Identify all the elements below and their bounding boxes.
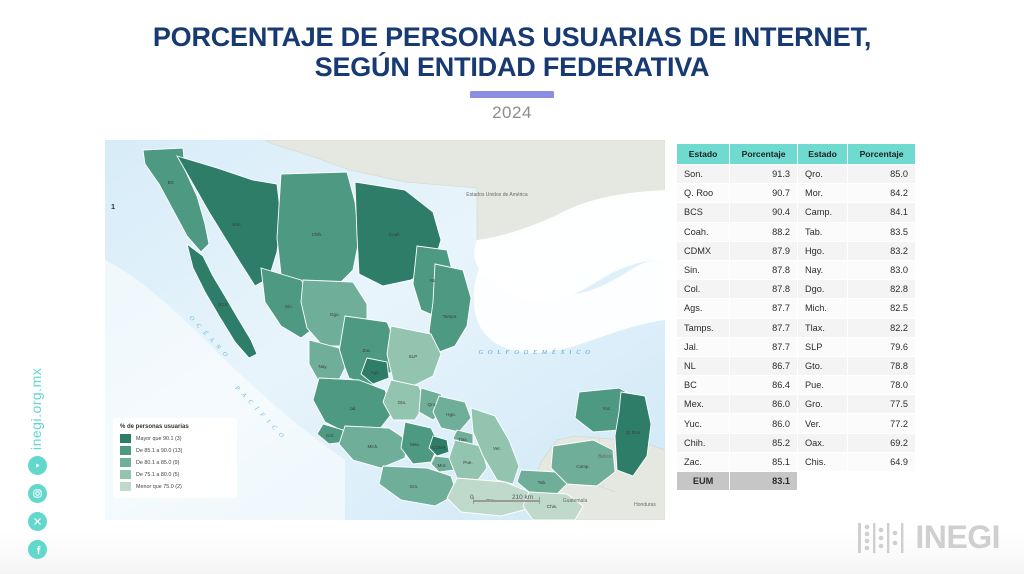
legend-item: De 80.1 a 85.0 (9) [120,458,230,467]
table-row: Chih.85.2Oax.69.2 [677,433,916,452]
social-icons [28,456,68,559]
inegi-logo-mark [856,521,908,555]
choropleth-map[interactable]: Estados Unidos de América G O L F O D E … [105,140,665,520]
cell-porcentaje: 87.7 [730,318,798,337]
cell-estado: Tab. [798,222,848,241]
cell-porcentaje: 91.3 [730,165,798,184]
cell-porcentaje: 86.7 [730,356,798,375]
col-header-estado-2: Estado [798,144,848,165]
cell-porcentaje: 87.7 [730,299,798,318]
table-head: Estado Porcentaje Estado Porcentaje [677,144,916,165]
table-row: Col.87.8Dgo.82.8 [677,280,916,299]
cell-estado: Ags. [677,299,730,318]
cell-estado: Pue. [798,376,848,395]
table-row: Coah.88.2Tab.83.5 [677,222,916,241]
table-row: Mex.86.0Gro.77.5 [677,395,916,414]
cell-blank [798,472,848,491]
cell-estado: Zac. [677,452,730,471]
percentage-table: Estado Porcentaje Estado Porcentaje Son.… [676,143,916,491]
cell-total-label: EUM [677,472,730,491]
cell-porcentaje: 83.0 [848,260,916,279]
cell-estado: Ver. [798,414,848,433]
table-row: NL86.7Gto.78.8 [677,356,916,375]
title-line-2: SEGÚN ENTIDAD FEDERATIVA [315,52,710,82]
legend-swatch [120,446,131,455]
table-row: Yuc.86.0Ver.77.2 [677,414,916,433]
state-gto [383,380,425,420]
page-title: PORCENTAJE DE PERSONAS USUARIAS DE INTER… [70,22,954,82]
cell-porcentaje: 90.7 [730,184,798,203]
cell-porcentaje: 79.6 [848,337,916,356]
table-row: Son.91.3Qro.85.0 [677,165,916,184]
cell-estado: Mor. [798,184,848,203]
legend-label: De 85.1 a 90.0 (13) [136,448,182,454]
cell-estado: BC [677,376,730,395]
legend-swatch [120,434,131,443]
cell-porcentaje: 77.2 [848,414,916,433]
facebook-icon[interactable] [28,540,47,559]
cell-porcentaje: 64.9 [848,452,916,471]
cell-porcentaje: 90.4 [730,203,798,222]
belice-label: Belice [598,454,612,460]
cell-total-value: 83.1 [730,472,798,491]
guatemala-label: Guatemala [563,498,588,504]
cell-porcentaje: 86.0 [730,395,798,414]
col-header-porcentaje-1: Porcentaje [730,144,798,165]
gulf-of-mexico-label: G O L F O D E M É X I C O [478,348,591,356]
state-chih [277,172,359,288]
honduras-label: Honduras [634,502,656,508]
table-row: CDMX87.9Hgo.83.2 [677,241,916,260]
legend-label: De 75.1 a 80.0 (5) [136,472,179,478]
table-body: Son.91.3Qro.85.0Q. Roo90.7Mor.84.2BCS90.… [677,165,916,491]
cell-estado: Col. [677,280,730,299]
year-label: 2024 [70,103,954,123]
cell-porcentaje: 82.2 [848,318,916,337]
legend-label: De 80.1 a 85.0 (9) [136,460,179,466]
cell-porcentaje: 85.2 [730,433,798,452]
cell-porcentaje: 87.8 [730,260,798,279]
cell-porcentaje: 78.0 [848,376,916,395]
table-total-row: EUM83.1 [677,472,916,491]
usa-label: Estados Unidos de América [466,192,528,198]
legend-item: De 75.1 a 80.0 (5) [120,470,230,479]
cell-estado: SLP [798,337,848,356]
col-header-porcentaje-2: Porcentaje [848,144,916,165]
cell-estado: Chis. [798,452,848,471]
x-icon[interactable] [28,512,47,531]
slide-root: PORCENTAJE DE PERSONAS USUARIAS DE INTER… [0,0,1024,574]
legend-item: Mayor que 90.1 (3) [120,434,230,443]
map-note-marker: 1 [111,202,115,211]
table-row: BC86.4Pue.78.0 [677,376,916,395]
legend-swatch [120,458,131,467]
cell-blank [848,472,916,491]
cell-porcentaje: 77.5 [848,395,916,414]
cell-estado: CDMX [677,241,730,260]
cell-porcentaje: 85.1 [730,452,798,471]
cell-porcentaje: 87.9 [730,241,798,260]
legend-item: De 85.1 a 90.0 (13) [120,446,230,455]
cell-estado: Tlax. [798,318,848,337]
cell-estado: Hgo. [798,241,848,260]
cell-estado: Oax. [798,433,848,452]
map-legend: % de personas usuarias Mayor que 90.1 (3… [113,418,237,498]
cell-porcentaje: 83.5 [848,222,916,241]
cell-estado: Sin. [677,260,730,279]
cell-estado: Nay. [798,260,848,279]
cell-porcentaje: 78.8 [848,356,916,375]
cell-estado: Yuc. [677,414,730,433]
table-row: BCS90.4Camp.84.1 [677,203,916,222]
cell-porcentaje: 85.0 [848,165,916,184]
cell-estado: BCS [677,203,730,222]
cell-porcentaje: 88.2 [730,222,798,241]
col-header-estado-1: Estado [677,144,730,165]
cell-estado: Qro. [798,165,848,184]
legend-title: % de personas usuarias [120,424,230,430]
cell-porcentaje: 69.2 [848,433,916,452]
map-scale-bar: 0 210 km [470,495,562,505]
instagram-icon[interactable] [28,484,47,503]
cell-porcentaje: 82.5 [848,299,916,318]
table-header-row: Estado Porcentaje Estado Porcentaje [677,144,916,165]
title-block: PORCENTAJE DE PERSONAS USUARIAS DE INTER… [70,22,954,123]
table-row: Sin.87.8Nay.83.0 [677,260,916,279]
social-rail: inegi.org.mx [28,330,68,559]
cell-porcentaje: 87.8 [730,280,798,299]
scale-start: 0 [470,494,474,501]
legend-label: Menor que 75.0 (2) [136,484,182,490]
cell-estado: Q. Roo [677,184,730,203]
cell-porcentaje: 86.4 [730,376,798,395]
legend-item: Menor que 75.0 (2) [120,482,230,491]
inegi-logo: INEGI [856,519,1000,556]
cell-estado: Jal. [677,337,730,356]
legend-swatch [120,470,131,479]
cell-estado: Chih. [677,433,730,452]
cell-estado: Camp. [798,203,848,222]
cell-porcentaje: 86.0 [730,414,798,433]
data-table-wrapper: Estado Porcentaje Estado Porcentaje Son.… [676,143,916,491]
youtube-icon[interactable] [28,456,47,475]
cell-porcentaje: 82.8 [848,280,916,299]
cell-porcentaje: 84.1 [848,203,916,222]
legend-label: Mayor que 90.1 (3) [136,436,182,442]
cell-estado: Gro. [798,395,848,414]
website-url[interactable]: inegi.org.mx [28,330,44,450]
title-line-1: PORCENTAJE DE PERSONAS USUARIAS DE INTER… [153,22,871,52]
table-row: Ags.87.7Mich.82.5 [677,299,916,318]
cell-estado: Mex. [677,395,730,414]
inegi-logo-text: INEGI [915,519,1000,556]
cell-estado: NL [677,356,730,375]
table-row: Jal.87.7SLP79.6 [677,337,916,356]
legend-swatch [120,482,131,491]
cell-estado: Tamps. [677,318,730,337]
cell-estado: Dgo. [798,280,848,299]
cell-porcentaje: 87.7 [730,337,798,356]
cell-estado: Mich. [798,299,848,318]
cell-porcentaje: 83.2 [848,241,916,260]
cell-porcentaje: 84.2 [848,184,916,203]
scale-end: 210 km [512,494,533,501]
cell-estado: Son. [677,165,730,184]
table-row: Q. Roo90.7Mor.84.2 [677,184,916,203]
title-divider [470,91,554,98]
table-row: Tamps.87.7Tlax.82.2 [677,318,916,337]
cell-estado: Coah. [677,222,730,241]
cell-estado: Gto. [798,356,848,375]
table-row: Zac.85.1Chis.64.9 [677,452,916,471]
